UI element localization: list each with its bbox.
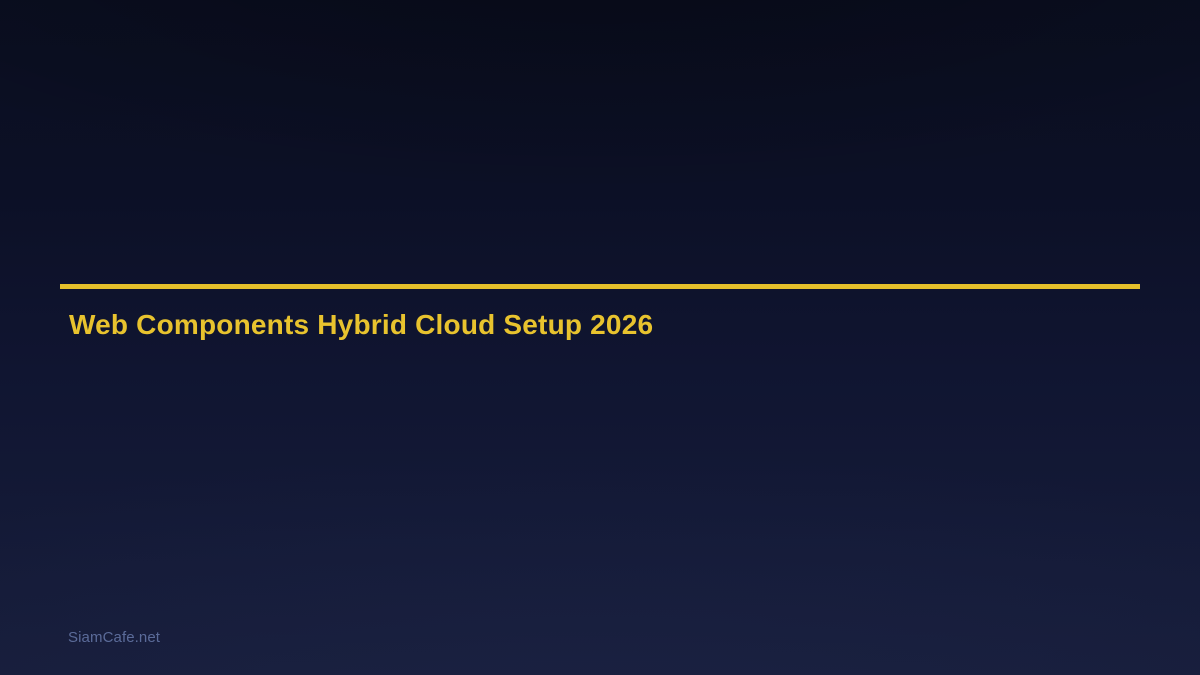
title-slide: Web Components Hybrid Cloud Setup 2026 S… (0, 0, 1200, 675)
title-block: Web Components Hybrid Cloud Setup 2026 (60, 284, 1140, 340)
page-title: Web Components Hybrid Cloud Setup 2026 (60, 289, 1140, 340)
footer-brand-label: SiamCafe.net (68, 629, 160, 646)
footer: SiamCafe.net (68, 629, 160, 647)
